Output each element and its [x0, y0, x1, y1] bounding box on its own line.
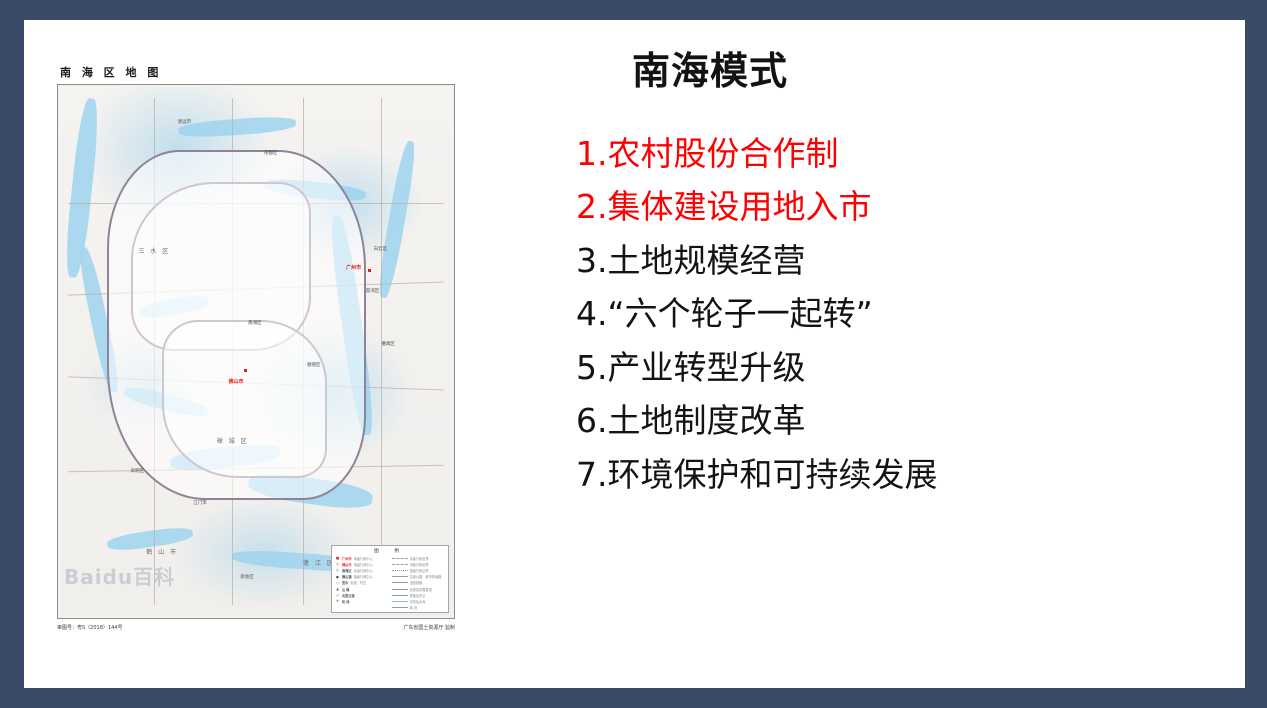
river-shape	[177, 115, 295, 139]
legend-line-icon	[392, 564, 408, 565]
map-area-label: 三 水 区	[138, 246, 170, 255]
map-frame[interactable]: 三 水 区 禅 城 区 鹤 山 市 蓬 江 区 荔湾区 白云区 番禺区 顺德区 …	[57, 84, 455, 619]
legend-desc: 地级行政中心	[354, 556, 373, 561]
legend-desc: 县级行政区界	[410, 568, 429, 573]
point-list: 1.农村股份合作制 2.集体建设用地入市 3.土地规模经营 4.“六个轮子一起转…	[576, 132, 1216, 497]
list-item-number: 5.	[576, 348, 608, 387]
list-item-label: 集体建设用地入市	[608, 187, 872, 226]
legend-symbol-column: ■ 广州市 地级行政中心 ◎ 佛山市 地级行政中心	[335, 555, 389, 613]
city-marker-label: 广州市	[346, 264, 361, 271]
map-legend: 图 例 ■ 广州市 地级行政中心 ◎ 佛山市	[331, 545, 449, 613]
legend-row: 城市建成区	[392, 611, 446, 613]
list-item[interactable]: 6.土地制度改革	[576, 399, 1216, 443]
legend-desc: 省级行政区界	[410, 556, 429, 561]
legend-desc: 街道、村庄	[350, 580, 366, 585]
city-marker-dot	[368, 269, 371, 272]
legend-desc: 城市建成区	[410, 611, 426, 613]
legend-symbol-icon: ■	[335, 556, 340, 560]
legend-line-icon	[392, 582, 408, 583]
legend-desc: 高速公路、城市快速路	[410, 574, 442, 579]
legend-desc: 区级行政中心	[354, 568, 373, 573]
map-footer: 审图号：粤S（2018）144号 广东省国土资源厅 监制	[57, 624, 455, 631]
list-item-label: 环境保护和可持续发展	[608, 455, 938, 494]
legend-name: 名胜古迹	[342, 593, 355, 598]
legend-heading: 图 例	[335, 548, 445, 554]
map-approval-number: 审图号：粤S（2018）144号	[57, 624, 122, 631]
legend-line-column: 省级行政区界 市级行政区界 县级行政区界	[392, 555, 446, 613]
legend-desc: 国道铁路	[410, 580, 423, 585]
map-area-label: 禅 城 区	[217, 436, 249, 445]
map-district-label: 南海区	[248, 320, 262, 326]
legend-symbol-icon: ◎	[335, 568, 340, 572]
legend-name: 机 场	[342, 599, 350, 604]
legend-symbol-icon: ◇	[335, 593, 340, 597]
legend-name: 里水	[342, 580, 348, 585]
list-item[interactable]: 1.农村股份合作制	[576, 132, 1216, 176]
legend-symbol-icon: ○	[335, 581, 340, 585]
legend-line-icon	[392, 589, 408, 590]
legend-symbol-icon: ◎	[335, 562, 340, 566]
list-item-label: 土地制度改革	[608, 401, 806, 440]
legend-row: ※ 机 场	[335, 598, 389, 604]
legend-desc: 河流及水库	[410, 599, 426, 604]
legend-desc: 铁路及车站	[410, 593, 426, 598]
list-item-label: 产业转型升级	[608, 348, 806, 387]
city-marker-label: 佛山市	[229, 378, 244, 385]
legend-name: 佛山市	[342, 562, 352, 567]
map-district-label: 花都区	[264, 150, 278, 156]
page-title: 南海模式	[632, 50, 1216, 94]
map-district-label: 江门市	[193, 500, 207, 506]
map-district-label: 番禺区	[381, 341, 395, 347]
map-district-label: 荔湾区	[366, 288, 380, 294]
legend-line-icon	[392, 595, 408, 596]
legend-line-icon	[392, 576, 408, 577]
list-item-label: 土地规模经营	[608, 241, 806, 280]
list-item[interactable]: 4.“六个轮子一起转”	[576, 292, 1216, 336]
map-block: 南 海 区 地 图	[57, 64, 489, 646]
map-district-label: 白云区	[374, 246, 388, 252]
slide-canvas: 南 海 区 地 图	[24, 20, 1245, 688]
list-item-number: 7.	[576, 455, 608, 494]
map-district-label: 高明区	[131, 468, 145, 474]
legend-desc: 镇级行政中心	[354, 574, 373, 579]
list-item-number: 3.	[576, 241, 608, 280]
legend-line-icon	[392, 558, 408, 559]
map-title: 南 海 区 地 图	[60, 64, 162, 80]
legend-name: 山 峰	[342, 587, 350, 592]
list-item[interactable]: 2.集体建设用地入市	[576, 185, 1216, 229]
legend-symbol-icon: ▲	[335, 587, 340, 591]
content-column: 南海模式 1.农村股份合作制 2.集体建设用地入市 3.土地规模经营 4.“六个…	[576, 50, 1216, 507]
legend-name: 广州市	[342, 556, 352, 561]
list-item-label: 农村股份合作制	[608, 134, 839, 173]
map-canvas: 三 水 区 禅 城 区 鹤 山 市 蓬 江 区 荔湾区 白云区 番禺区 顺德区 …	[60, 87, 452, 616]
map-district-label: 清远市	[178, 119, 192, 125]
list-item[interactable]: 3.土地规模经营	[576, 239, 1216, 283]
list-item[interactable]: 7.环境保护和可持续发展	[576, 453, 1216, 497]
district-boundary	[107, 150, 366, 499]
map-publisher: 广东省国土资源厅 监制	[403, 624, 455, 631]
city-marker-dot	[244, 369, 247, 372]
legend-desc: 省道及重要县道	[410, 587, 432, 592]
baidu-watermark: Baidu百科	[64, 561, 175, 590]
list-item-number: 4.	[576, 294, 608, 333]
map-district-label: 顺德区	[307, 362, 321, 368]
legend-name: 南海区	[342, 568, 352, 573]
list-item-number: 2.	[576, 187, 608, 226]
legend-line-icon	[392, 607, 408, 608]
legend-desc: 地级行政中心	[354, 562, 373, 567]
list-item-number: 6.	[576, 401, 608, 440]
legend-desc: 湖 泊	[410, 605, 417, 610]
list-item-label: “六个轮子一起转”	[608, 294, 873, 333]
slide-root: 南 海 区 地 图	[0, 0, 1267, 708]
legend-desc: 市级行政区界	[410, 562, 429, 567]
map-district-label: 新会区	[240, 574, 254, 580]
legend-line-icon	[392, 570, 408, 571]
list-item[interactable]: 5.产业转型升级	[576, 346, 1216, 390]
legend-symbol-icon: ●	[335, 575, 340, 579]
legend-line-icon	[392, 601, 408, 602]
map-area-label: 鹤 山 市	[146, 547, 178, 556]
list-item-number: 1.	[576, 134, 608, 173]
legend-symbol-icon: ※	[335, 599, 340, 603]
legend-name: 狮山镇	[342, 574, 352, 579]
road-line	[381, 98, 382, 606]
